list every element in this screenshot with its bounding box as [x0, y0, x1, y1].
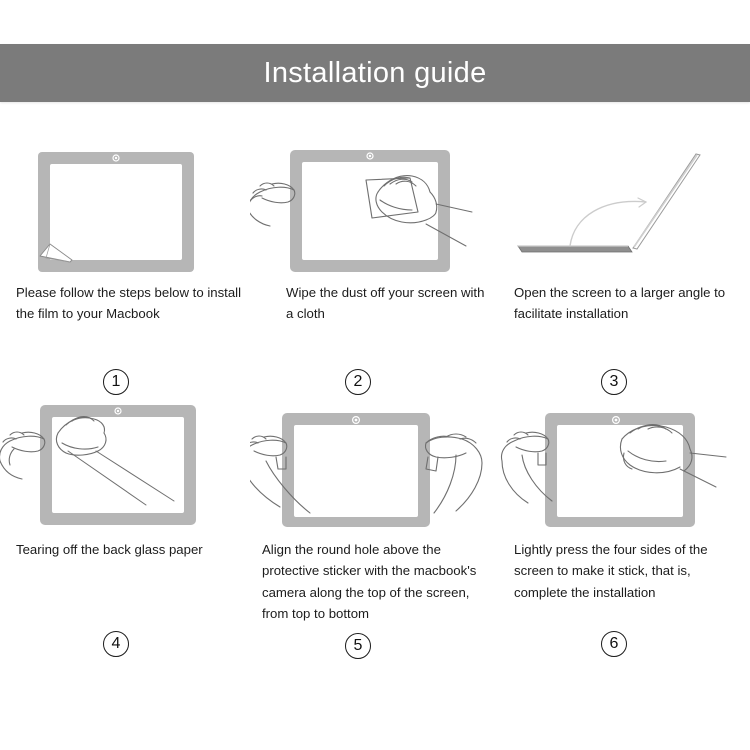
step-badge-wrap-6: 6 [500, 623, 750, 657]
step-badge-wrap-5: 5 [250, 625, 500, 659]
step-card-2: Wipe the dust off your screen with a clo… [250, 140, 500, 395]
illustration-tearing-backing-paper [0, 395, 250, 527]
step-badge-wrap-2: 2 [250, 361, 500, 395]
step-card-6: Lightly press the four sides of the scre… [500, 395, 750, 657]
step-card-5: Align the round hole above the protectiv… [250, 395, 500, 657]
header-banner: Installation guide [0, 44, 750, 102]
illustration-tablet-with-peeling-film [0, 140, 250, 272]
steps-row-bottom: Tearing off the back glass paper 4 [0, 395, 750, 657]
step-caption-6: Lightly press the four sides of the scre… [500, 539, 750, 603]
step-badge-1: 1 [103, 369, 129, 395]
illustration-laptop-opening [500, 140, 750, 272]
step-card-4: Tearing off the back glass paper 4 [0, 395, 250, 657]
illustration-wiping-screen-with-cloth [250, 140, 500, 272]
illustration-aligning-film [250, 395, 500, 527]
step-caption-1: Please follow the steps below to install… [0, 282, 250, 325]
step-badge-5: 5 [345, 633, 371, 659]
page-title: Installation guide [263, 59, 486, 88]
step-caption-5: Align the round hole above the protectiv… [250, 539, 500, 625]
step-badge-3: 3 [601, 369, 627, 395]
step-caption-2: Wipe the dust off your screen with a clo… [250, 282, 500, 325]
step-card-3: Open the screen to a larger angle to fac… [500, 140, 750, 395]
illustration-pressing-film-edges [500, 395, 750, 527]
step-badge-wrap-1: 1 [0, 361, 250, 395]
step-badge-wrap-3: 3 [500, 361, 750, 395]
step-badge-2: 2 [345, 369, 371, 395]
steps-row-top: Please follow the steps below to install… [0, 140, 750, 395]
step-caption-3: Open the screen to a larger angle to fac… [500, 282, 750, 325]
step-badge-4: 4 [103, 631, 129, 657]
steps-grid: Please follow the steps below to install… [0, 140, 750, 657]
step-badge-wrap-4: 4 [0, 623, 250, 657]
step-badge-6: 6 [601, 631, 627, 657]
step-caption-4: Tearing off the back glass paper [0, 539, 250, 560]
step-card-1: Please follow the steps below to install… [0, 140, 250, 395]
